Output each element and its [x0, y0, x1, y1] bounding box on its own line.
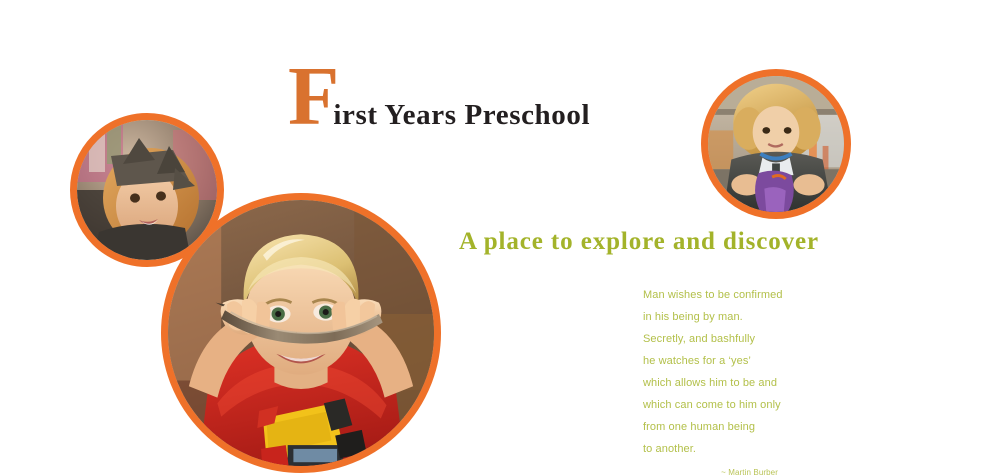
brand-name-text: irst Years Preschool [333, 99, 590, 132]
brand-dropcap-letter: F [288, 64, 337, 130]
quote-attribution: ~ Martin Burber [643, 468, 783, 475]
photo-right-image [708, 76, 844, 212]
quote-line: in his being by man. [643, 306, 783, 328]
site-tagline: A place to explore and discover [459, 228, 819, 256]
quote-line: Man wishes to be confirmed [643, 284, 783, 306]
photo-child-holding-stick[interactable] [161, 193, 441, 473]
quote-line: Secretly, and bashfully [643, 328, 783, 350]
quote-line: he watches for a ‘yes’ [643, 350, 783, 372]
quote-line: which can come to him only [643, 394, 783, 416]
quote-line: to another. [643, 438, 783, 460]
quote-line: which allows him to be and [643, 372, 783, 394]
page-root: First Years Preschool A place to explore… [0, 0, 1000, 475]
site-masthead[interactable]: First Years Preschool [288, 64, 590, 132]
quotation-block: Man wishes to be confirmed in his being … [643, 284, 783, 475]
quote-line: from one human being [643, 416, 783, 438]
photo-center-image [168, 200, 434, 466]
photo-child-painting-hands[interactable] [701, 69, 851, 219]
